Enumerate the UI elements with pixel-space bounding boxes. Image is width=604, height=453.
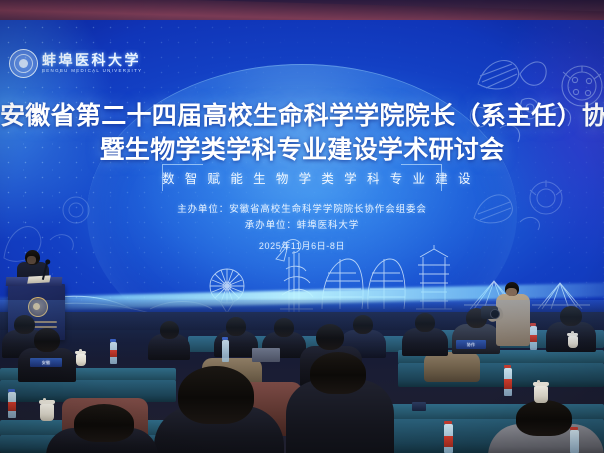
laptop-icon [252, 348, 280, 362]
conference-theme-text: 数 智 赋 能 生 物 学 类 学 科 专 业 建 设 [162, 168, 442, 187]
speaker-face [27, 256, 36, 264]
tea-cup-icon [40, 404, 54, 421]
conference-title-line1: 安徽省第二十四届高校生命科学学院院长（系主任）协作会 [0, 96, 604, 132]
bottle-cap-icon [444, 421, 452, 424]
smartphone-icon [412, 402, 426, 411]
attendee-shoulders [402, 328, 448, 356]
attendee-head [74, 404, 134, 442]
camera-icon [481, 306, 498, 319]
attendee-head [353, 315, 373, 334]
organizer-line: 承办单位：蚌埠医科大学 [0, 217, 604, 231]
attendee-head [560, 306, 582, 326]
bottle-label [110, 350, 117, 357]
attendee-head [14, 315, 35, 334]
attendee-head [178, 366, 254, 424]
tea-cup-lid-icon [75, 351, 86, 354]
bottle-label [530, 335, 537, 342]
university-seal-icon [9, 49, 38, 78]
bottle-cap-icon [570, 427, 578, 430]
bottle-cap-icon [8, 389, 15, 392]
attendee-head [34, 328, 60, 352]
conference-photo: 蚌埠医科大学 BENGBU MEDICAL UNIVERSITY 安徽省第二十四… [0, 0, 604, 453]
bottle-label [504, 379, 512, 389]
bottle-cap-icon [110, 339, 116, 342]
tea-cup-lid-icon [533, 382, 549, 386]
name-card-icon: 协作 [456, 340, 486, 349]
attendee-head [516, 400, 572, 436]
bottle-cap-icon [504, 365, 511, 368]
university-name-cn: 蚌埠医科大学 [42, 53, 142, 67]
water-bottle-icon [222, 340, 229, 362]
tea-cup-lid-icon [39, 400, 55, 404]
bottle-label [444, 436, 453, 447]
photographer-torso [496, 294, 530, 346]
conference-date: 2025年11月6日-8日 [0, 239, 604, 252]
attendee-head [226, 317, 246, 336]
bottle-label [8, 402, 16, 411]
podium-emblem-icon [28, 297, 48, 317]
conference-theme-frame: 数 智 赋 能 生 物 学 类 学 科 专 业 建 设 [162, 164, 442, 190]
tea-cup-icon [534, 386, 548, 403]
bottle-cap-icon [222, 337, 228, 340]
water-bottle-icon [570, 430, 579, 453]
bottle-cap-icon [530, 323, 536, 326]
tea-cup-lid-icon [567, 333, 578, 336]
university-name-en: BENGBU MEDICAL UNIVERSITY [42, 69, 142, 73]
attendee-head [415, 313, 435, 332]
attendee-head [274, 318, 294, 337]
tea-cup-icon [76, 354, 86, 366]
attendee-shoulders [452, 324, 500, 354]
speaker-papers [27, 275, 51, 283]
university-logo: 蚌埠医科大学 BENGBU MEDICAL UNIVERSITY [9, 49, 142, 78]
led-backdrop-screen: 蚌埠医科大学 BENGBU MEDICAL UNIVERSITY 安徽省第二十四… [0, 20, 604, 320]
attendee-head [160, 321, 179, 339]
tea-cup-icon [568, 336, 578, 348]
host-organization-line: 主办单位：安徽省高校生命科学学院院长协作会组委会 [0, 201, 604, 215]
conference-title-line2: 暨生物学类学科专业建设学术研讨会 [0, 130, 604, 166]
name-card-icon: 安徽 [30, 358, 62, 367]
photographer-face [506, 288, 517, 296]
chair [424, 352, 480, 382]
attendee-head [310, 352, 366, 394]
attendee-head [316, 324, 344, 350]
